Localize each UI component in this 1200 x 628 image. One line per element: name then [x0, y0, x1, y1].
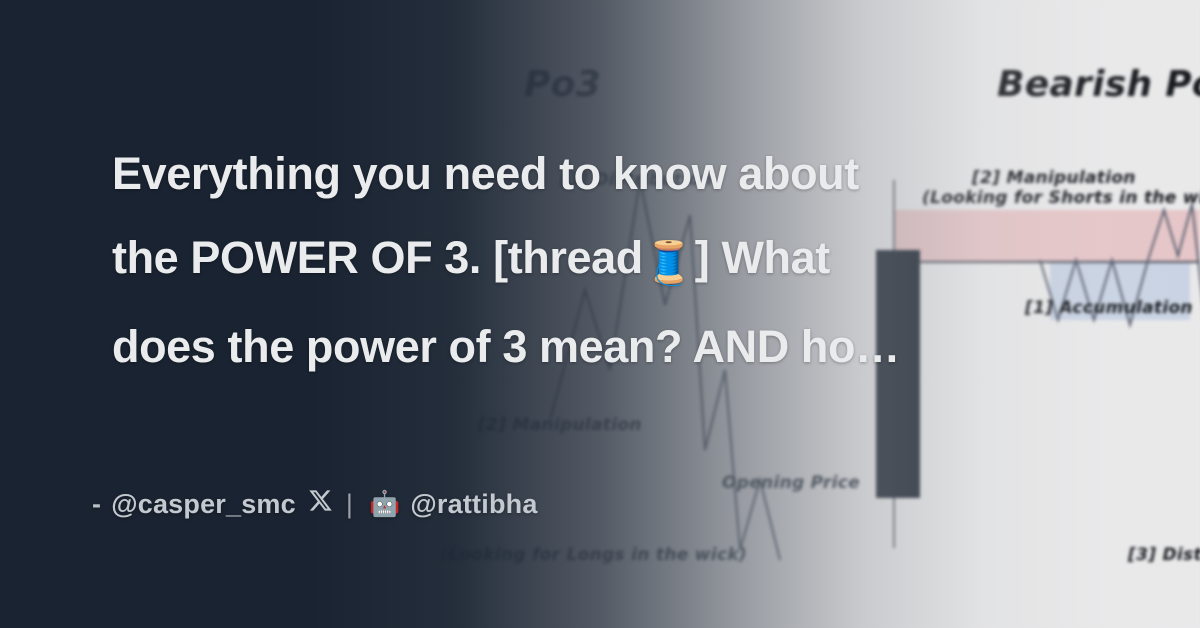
thread-emoji: 🧵: [643, 238, 695, 287]
title-line-2: the POWER OF 3. [thread🧵] What: [112, 216, 1052, 305]
title-line-2-text-a: the POWER OF 3. [thread: [112, 232, 643, 283]
title-line-2-text-b: ] What: [695, 232, 830, 283]
x-logo-icon: [308, 488, 333, 520]
social-share-card: Po3 Bearish Po3 [3] Distribution [2] Man…: [0, 0, 1200, 628]
card-content: Everything you need to know about the PO…: [0, 0, 1200, 628]
title-line-1: Everything you need to know about: [112, 132, 1052, 216]
byline-separator: |: [346, 489, 353, 520]
platform-handle[interactable]: @rattibha: [410, 489, 537, 520]
card-byline: - @casper_smc | 🤖 @rattibha: [92, 488, 538, 520]
byline-dash: -: [92, 489, 101, 520]
title-line-3: does the power of 3 mean? AND ho…: [112, 305, 1052, 389]
author-handle[interactable]: @casper_smc: [111, 489, 296, 520]
robot-icon: 🤖: [369, 489, 400, 519]
card-title: Everything you need to know about the PO…: [112, 132, 1052, 389]
